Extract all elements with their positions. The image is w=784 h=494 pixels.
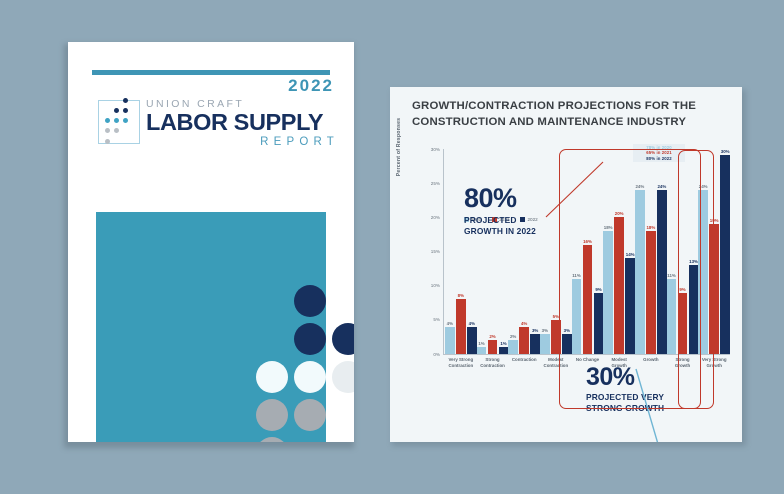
bar-group: 1%2%1%: [477, 149, 509, 354]
bar-value-label: 18%: [604, 225, 613, 230]
bar-value-label: 4%: [447, 321, 453, 326]
bar-value-label: 20%: [615, 211, 624, 216]
bar-value-label: 9%: [595, 287, 601, 292]
bar-column[interactable]: 4%: [445, 149, 455, 354]
callout-bottom-line1: PROJECTED VERY: [586, 392, 726, 403]
y-tick-label: 10%: [418, 283, 440, 288]
bar[interactable]: [477, 347, 487, 354]
x-tick-label: StrongContraction: [477, 357, 509, 368]
bar[interactable]: [551, 320, 561, 354]
bar-group: 11%16%9%: [572, 149, 604, 354]
bar[interactable]: [540, 334, 550, 355]
bar-value-label: 13%: [689, 259, 698, 264]
bar-column[interactable]: 24%: [657, 149, 667, 354]
bar[interactable]: [562, 334, 572, 355]
bar-column[interactable]: 5%: [551, 149, 561, 354]
bar-value-label: 19%: [710, 218, 719, 223]
bar-column[interactable]: 24%: [635, 149, 645, 354]
chart-title-line2: CONSTRUCTION AND MAINTENANCE INDUSTRY: [412, 115, 722, 131]
bar-value-label: 4%: [521, 321, 527, 326]
bar[interactable]: [488, 340, 498, 354]
bar-column[interactable]: 1%: [499, 149, 509, 354]
logo-title: LABOR SUPPLY: [146, 110, 341, 135]
bar-column[interactable]: 11%: [667, 149, 677, 354]
x-axis-line: [443, 354, 730, 355]
bar-group: 11%9%13%: [667, 149, 699, 354]
bar-groups: 4%8%4%1%2%1%2%4%3%3%5%3%11%16%9%18%20%14…: [445, 149, 730, 354]
chart-title: GROWTH/CONTRACTION PROJECTIONS FOR THE C…: [412, 99, 722, 130]
cover-top-rule: [92, 70, 330, 75]
bar-value-label: 24%: [635, 184, 644, 189]
bar-column[interactable]: 30%: [720, 149, 730, 354]
bar-value-label: 30%: [721, 149, 730, 154]
y-tick-label: 25%: [418, 181, 440, 186]
bar-column[interactable]: 24%: [698, 149, 708, 354]
decor-circle-gray: [256, 399, 288, 431]
callout-bottom-number: 30%: [586, 364, 726, 390]
bar-value-label: 11%: [572, 273, 581, 278]
bar[interactable]: [657, 190, 667, 354]
bar-value-label: 2%: [489, 334, 495, 339]
callout-projected-growth: 80% PROJECTED GROWTH IN 2022: [464, 185, 584, 237]
bar[interactable]: [456, 299, 466, 354]
bar-value-label: 2%: [510, 334, 516, 339]
bar-group: 3%5%3%: [540, 149, 572, 354]
bar[interactable]: [594, 293, 604, 355]
bar-column[interactable]: 4%: [519, 149, 529, 354]
y-tick-label: 20%: [418, 215, 440, 220]
bar-column[interactable]: 16%: [583, 149, 593, 354]
bar[interactable]: [530, 334, 540, 355]
bar-column[interactable]: 3%: [562, 149, 572, 354]
bar-value-label: 24%: [699, 184, 708, 189]
bar-group: 18%20%14%: [603, 149, 635, 354]
bar[interactable]: [467, 327, 477, 354]
callout-bottom-text: PROJECTED VERY STRONG GROWTH: [586, 392, 726, 414]
bar-value-label: 5%: [553, 314, 559, 319]
bar[interactable]: [646, 231, 656, 354]
bar-column[interactable]: 19%: [709, 149, 719, 354]
bar-column[interactable]: 3%: [530, 149, 540, 354]
bar[interactable]: [583, 245, 593, 354]
x-tick-label: ModestContraction: [540, 357, 572, 368]
bar-value-label: 3%: [532, 328, 538, 333]
decor-circle-navy: [332, 323, 354, 355]
bar-value-label: 3%: [542, 328, 548, 333]
bar-value-label: 1%: [478, 341, 484, 346]
decor-circle-white: [294, 361, 326, 393]
bar-column[interactable]: 18%: [646, 149, 656, 354]
y-tick-label: 0%: [418, 352, 440, 357]
bar-column[interactable]: 2%: [508, 149, 518, 354]
bar-column[interactable]: 3%: [540, 149, 550, 354]
bar-value-label: 9%: [679, 287, 685, 292]
bar-column[interactable]: 9%: [678, 149, 688, 354]
bar[interactable]: [603, 231, 613, 354]
bar-value-label: 8%: [458, 293, 464, 298]
decor-circle-gray: [294, 399, 326, 431]
decor-circle-white: [332, 361, 354, 393]
y-axis-line: [443, 149, 444, 354]
bar-column[interactable]: 4%: [467, 149, 477, 354]
bar[interactable]: [499, 347, 509, 354]
bar-column[interactable]: 11%: [572, 149, 582, 354]
y-tick-label: 5%: [418, 317, 440, 322]
y-tick-label: 30%: [418, 147, 440, 152]
bar[interactable]: [445, 327, 455, 354]
bar-group: 24%19%30%: [698, 149, 730, 354]
bar-column[interactable]: 2%: [488, 149, 498, 354]
bar[interactable]: [519, 327, 529, 354]
decor-circle-navy: [294, 323, 326, 355]
bar-value-label: 24%: [657, 184, 666, 189]
bar-value-label: 16%: [583, 239, 592, 244]
bar[interactable]: [614, 217, 624, 354]
bar-column[interactable]: 13%: [689, 149, 699, 354]
bar-column[interactable]: 9%: [594, 149, 604, 354]
bar-column[interactable]: 1%: [477, 149, 487, 354]
bar-column[interactable]: 18%: [603, 149, 613, 354]
growth-annotation-box: 78% in 202065% in 202180% in 2022: [633, 144, 685, 162]
decor-circle-white: [256, 361, 288, 393]
bar-column[interactable]: 14%: [625, 149, 635, 354]
bar[interactable]: [709, 224, 719, 354]
bar-value-label: 11%: [667, 273, 676, 278]
y-tick-label: 15%: [418, 249, 440, 254]
logo-subtitle: REPORT: [146, 135, 341, 149]
bar-value-label: 4%: [469, 321, 475, 326]
callout-top-number: 80%: [464, 185, 584, 212]
bar[interactable]: [678, 293, 688, 355]
bar[interactable]: [625, 258, 635, 354]
logo-dot-grid-icon: [98, 100, 140, 144]
bar[interactable]: [689, 265, 699, 354]
annotation-line: 80% in 2022: [635, 156, 683, 161]
cover-color-band: The Association of Union Constructors CL…: [96, 212, 326, 442]
bar-column[interactable]: 20%: [614, 149, 624, 354]
callout-top-text: PROJECTED GROWTH IN 2022: [464, 215, 584, 237]
decor-circle-navy: [294, 285, 326, 317]
x-tick-label: Contraction: [508, 357, 540, 368]
callout-very-strong-growth: 30% PROJECTED VERY STRONG GROWTH: [586, 364, 726, 414]
bar-group: 2%4%3%: [508, 149, 540, 354]
bar-value-label: 3%: [564, 328, 570, 333]
x-tick-label: Very StrongContraction: [445, 357, 477, 368]
bar[interactable]: [667, 279, 677, 354]
union-craft-logo: UNION CRAFT LABOR SUPPLY REPORT: [98, 98, 338, 160]
bar[interactable]: [508, 340, 518, 354]
y-axis-label: Percent of Responses: [396, 87, 402, 207]
bar[interactable]: [635, 190, 645, 354]
cover-year: 2022: [288, 76, 334, 96]
bar-value-label: 1%: [500, 341, 506, 346]
chart-panel: GROWTH/CONTRACTION PROJECTIONS FOR THE C…: [390, 87, 742, 442]
bar-value-label: 14%: [626, 252, 635, 257]
callout-top-line1: PROJECTED: [464, 215, 584, 226]
bar[interactable]: [720, 155, 730, 354]
report-cover: 2022 UNION CRAFT LABOR SUPPLY REPORT: [68, 42, 354, 442]
bar-group: 4%8%4%: [445, 149, 477, 354]
callout-top-line2: GROWTH IN 2022: [464, 226, 584, 237]
callout-bottom-line2: STRONG GROWTH: [586, 403, 726, 414]
chart-title-line1: GROWTH/CONTRACTION PROJECTIONS FOR THE: [412, 99, 722, 115]
bar[interactable]: [698, 190, 708, 354]
bar-group: 24%18%24%: [635, 149, 667, 354]
bar-value-label: 18%: [646, 225, 655, 230]
bar[interactable]: [572, 279, 582, 354]
bar-column[interactable]: 8%: [456, 149, 466, 354]
